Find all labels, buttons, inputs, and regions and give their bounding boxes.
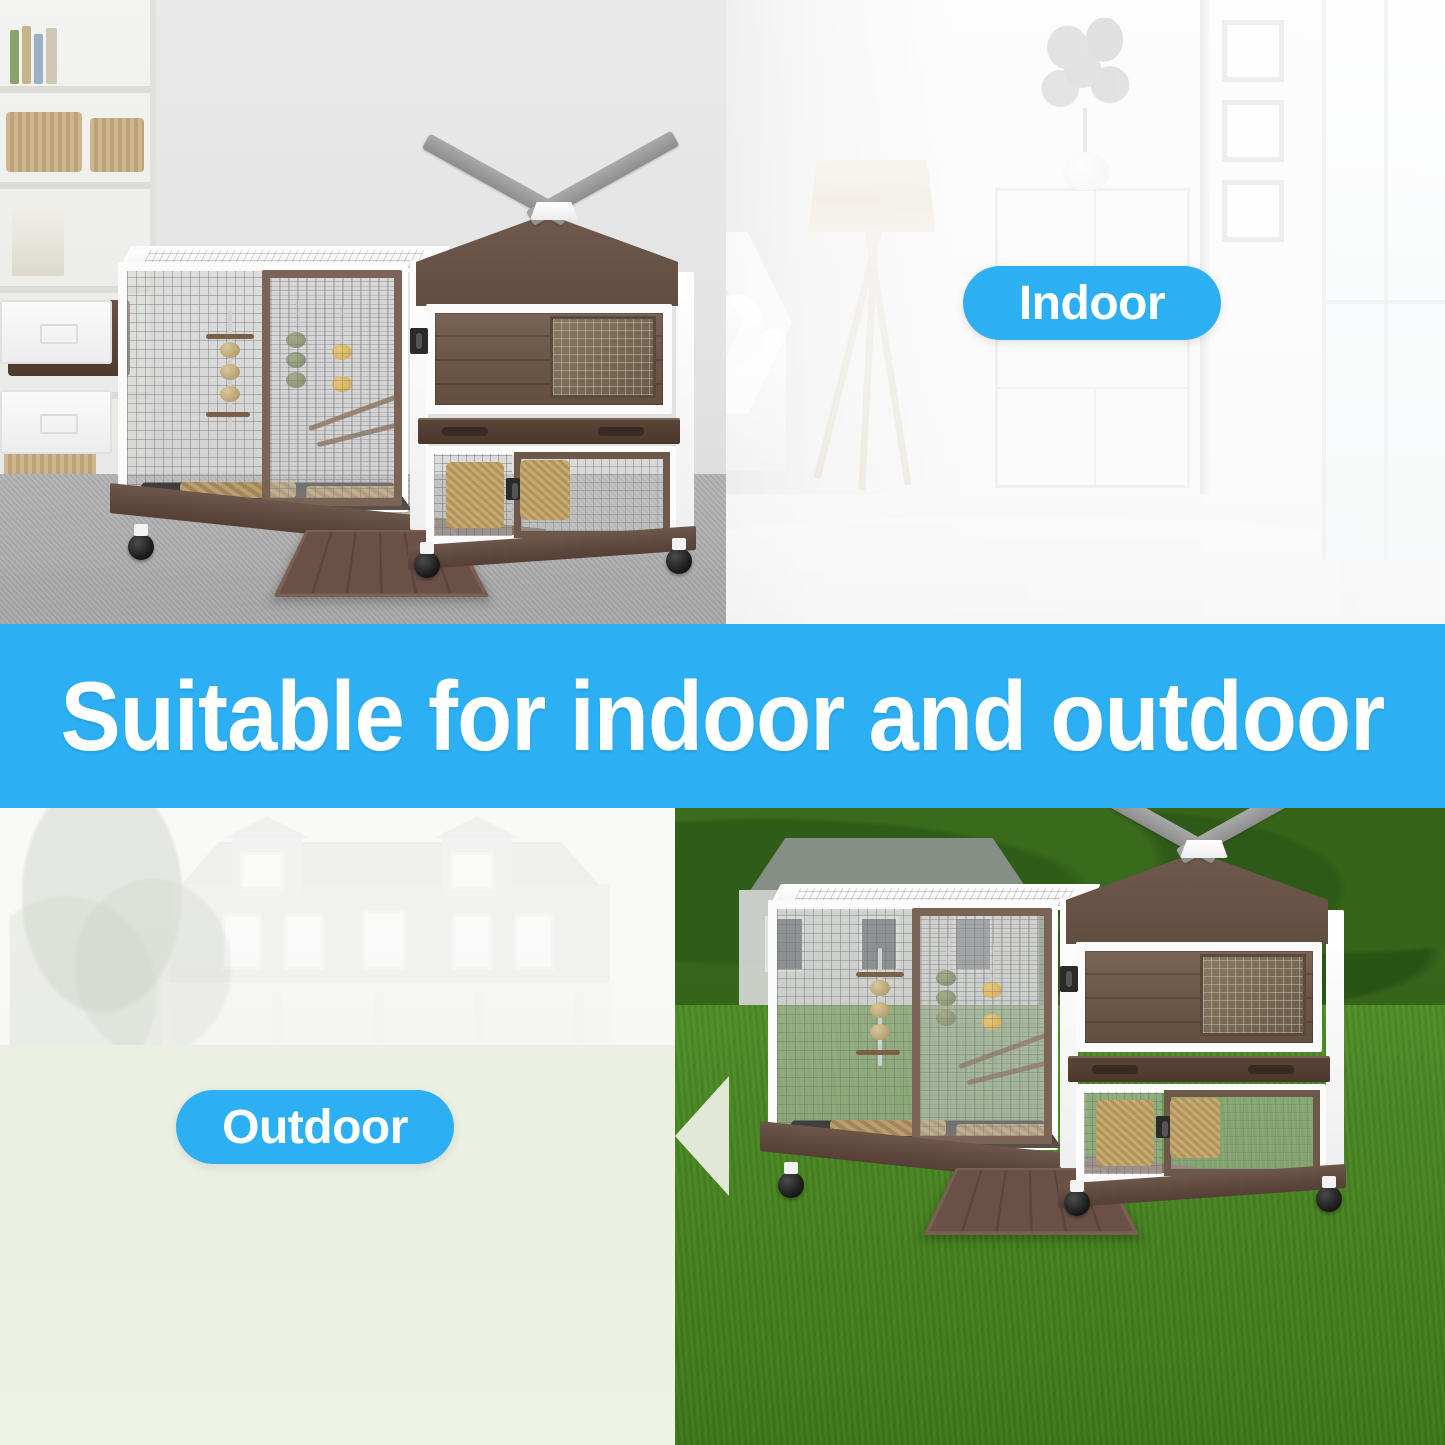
- headline-text: Suitable for indoor and outdoor: [61, 667, 1385, 765]
- toy-ball: [220, 364, 240, 380]
- room-rug: [700, 516, 1340, 624]
- badge-indoor-label: Indoor: [1019, 276, 1165, 331]
- door-hinge: [1156, 1116, 1170, 1138]
- pull-out-tray: [1068, 1056, 1330, 1082]
- wall-picture-frame: [1222, 20, 1284, 82]
- toy-branch: [206, 412, 250, 417]
- toy-ball: [870, 1002, 890, 1018]
- toy-ball: [220, 386, 240, 402]
- top-half: Indoor: [0, 0, 1445, 624]
- product-infographic-poster: Indoor Suitable for indoor and outdoor: [0, 0, 1445, 1445]
- toy-ball: [870, 1024, 890, 1040]
- castor-wheel: [1064, 1190, 1090, 1216]
- toy-branch: [856, 1050, 900, 1055]
- toy-ball: [870, 980, 890, 996]
- hay-bundle: [446, 462, 504, 528]
- bottom-half: Outdoor: [0, 808, 1445, 1445]
- plant-stem: [1083, 108, 1087, 156]
- outdoor-product-photo: [675, 808, 1445, 1445]
- upper-level-window: [550, 316, 656, 398]
- gable-wall: [1066, 852, 1328, 944]
- toy-branch: [856, 972, 904, 977]
- gable-wall: [416, 214, 678, 306]
- storage-box: [0, 300, 112, 364]
- floor-lamp-shade: [808, 160, 936, 232]
- plant-leaves-icon: [1040, 18, 1132, 116]
- toy-ball: [220, 342, 240, 358]
- door-hinge: [410, 328, 428, 354]
- castor-wheel: [1316, 1186, 1342, 1212]
- rabbit-hutch-product: [110, 200, 726, 615]
- badge-outdoor-label: Outdoor: [222, 1100, 408, 1155]
- house-post: [1326, 910, 1344, 1172]
- door-hinge: [1060, 966, 1078, 992]
- badge-outdoor: Outdoor: [176, 1090, 454, 1164]
- castor-wheel: [666, 548, 692, 574]
- roof-ridge-cap: [530, 202, 578, 220]
- roof-ridge-cap: [1180, 840, 1228, 858]
- castor-wheel: [128, 534, 154, 560]
- run-access-door: [262, 270, 402, 506]
- toy-branch: [206, 334, 254, 339]
- castor-wheel: [778, 1172, 804, 1198]
- hay-bundle: [1096, 1100, 1154, 1166]
- indoor-product-photo: [0, 0, 726, 624]
- wall-picture-frame: [1222, 100, 1284, 162]
- headline-banner: Suitable for indoor and outdoor: [0, 624, 1445, 808]
- rabbit-hutch-product: [760, 838, 1380, 1248]
- run-access-door: [912, 908, 1052, 1144]
- hay-bundle: [520, 460, 570, 520]
- castor-wheel: [414, 552, 440, 578]
- hay-bundle: [1170, 1098, 1220, 1158]
- pull-out-tray: [418, 418, 680, 444]
- upper-level-window: [1200, 954, 1306, 1036]
- door-hinge: [506, 478, 520, 500]
- wall-picture-frame: [1222, 180, 1284, 242]
- window-panel: [1322, 0, 1445, 560]
- badge-indoor: Indoor: [963, 266, 1221, 340]
- house-post: [676, 272, 694, 534]
- plant-pot: [1063, 152, 1109, 190]
- storage-box: [0, 390, 112, 454]
